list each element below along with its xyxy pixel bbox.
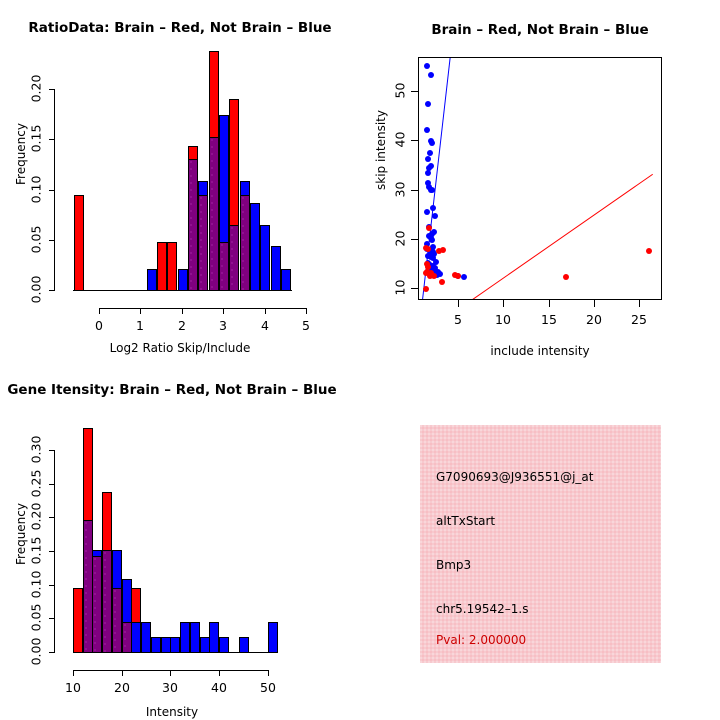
scatter-point <box>455 273 461 279</box>
x-axis-tick-label: 30 <box>150 680 190 695</box>
intensity-scatter-y-axis-label: skip intensity <box>374 110 388 190</box>
x-axis-tick <box>458 300 459 307</box>
scatter-point <box>563 274 569 280</box>
y-axis-tick-label: 10 <box>393 270 408 306</box>
y-axis-tick <box>411 190 418 191</box>
info-locus: chr5.19542–1.s <box>436 602 528 616</box>
scatter-point <box>461 274 467 280</box>
x-axis-tick <box>140 308 141 314</box>
x-axis-tick <box>182 308 183 314</box>
y-axis-tick <box>49 484 55 485</box>
y-axis-tick <box>49 139 55 140</box>
scatter-point <box>424 209 430 215</box>
intensity-scatter-panel: Brain – Red, Not Brain – Blue skip inten… <box>360 0 720 360</box>
x-axis-tick <box>549 300 550 307</box>
x-axis-tick-label: 5 <box>286 318 326 333</box>
x-axis-tick-label: 2 <box>162 318 202 333</box>
histogram-bar <box>281 269 291 291</box>
x-axis-tick-label: 40 <box>199 680 239 695</box>
y-axis-tick <box>49 89 55 90</box>
x-axis-tick <box>639 300 640 307</box>
scatter-points-clip <box>419 58 661 299</box>
scatter-point <box>429 237 435 243</box>
y-axis-tick-label: 30 <box>393 172 408 208</box>
y-axis-tick-label: 20 <box>393 221 408 257</box>
x-axis-tick-label: 20 <box>574 312 614 327</box>
gene-intensity-y-axis-label: Frequency <box>14 503 28 565</box>
y-axis-tick <box>49 585 55 586</box>
scatter-point <box>429 187 435 193</box>
gene-info-panel: G7090693@J936551@j_at altTxStart Bmp3 ch… <box>420 425 661 663</box>
ratio-histogram-panel: RatioData: Brain – Red, Not Brain – Blue… <box>0 0 360 360</box>
info-gene-symbol: Bmp3 <box>436 558 471 572</box>
histogram-bar <box>219 637 229 653</box>
x-axis-tick <box>122 670 123 676</box>
y-axis-tick-label: 0.10 <box>29 168 44 212</box>
x-axis-tick <box>170 670 171 676</box>
gene-intensity-x-axis-label: Intensity <box>146 705 198 719</box>
intensity-scatter-x-axis-label: include intensity <box>490 344 589 358</box>
scatter-point <box>424 127 430 133</box>
scatter-point <box>432 213 438 219</box>
ratio-histogram-title: RatioData: Brain – Red, Not Brain – Blue <box>28 20 331 36</box>
x-axis-tick-label: 1 <box>120 318 160 333</box>
x-axis-tick <box>265 308 266 314</box>
histogram-bar <box>188 159 198 291</box>
scatter-point <box>437 271 443 277</box>
scatter-point <box>423 286 429 292</box>
y-axis-tick <box>411 239 418 240</box>
gene-intensity-histogram-panel: Gene Itensity: Brain – Red, Not Brain – … <box>0 360 360 720</box>
x-axis-tick-label: 0 <box>79 318 119 333</box>
scatter-point <box>429 231 435 237</box>
histogram-bar <box>147 269 157 291</box>
y-axis-tick <box>49 517 55 518</box>
histogram-bar <box>151 637 161 653</box>
y-axis-tick-label: 0.00 <box>29 268 44 312</box>
histogram-bar <box>92 556 102 653</box>
info-event-type: altTxStart <box>436 514 495 528</box>
histogram-bar <box>170 637 180 653</box>
histogram-bar <box>73 588 83 653</box>
x-axis-tick-label: 5 <box>438 312 478 327</box>
y-axis-tick <box>49 652 55 653</box>
x-axis-tick-label: 4 <box>245 318 285 333</box>
y-axis-tick <box>49 190 55 191</box>
histogram-bar <box>209 137 219 291</box>
y-axis-tick <box>49 551 55 552</box>
y-axis-tick <box>49 450 55 451</box>
histogram-bar <box>167 242 177 291</box>
scatter-point <box>429 140 435 146</box>
x-axis-line <box>99 308 306 309</box>
y-axis-tick <box>411 140 418 141</box>
info-pval: Pval: 2.000000 <box>436 633 526 647</box>
y-axis-tick-label: 0.20 <box>29 67 44 111</box>
scatter-point <box>439 279 445 285</box>
y-axis-tick-label: 0.30 <box>29 428 44 472</box>
info-probe-id: G7090693@J936551@j_at <box>436 470 593 484</box>
scatter-point <box>425 156 431 162</box>
histogram-bar <box>229 225 239 291</box>
ratio-histogram-y-axis-label: Frequency <box>14 123 28 185</box>
scatter-point <box>430 205 436 211</box>
x-axis-tick <box>268 670 269 676</box>
histogram-bar <box>141 622 151 653</box>
histogram-bar <box>157 242 167 291</box>
histogram-bar <box>102 550 112 653</box>
histogram-bar <box>198 195 208 291</box>
histogram-bar <box>131 622 141 653</box>
scatter-point <box>436 248 442 254</box>
intensity-scatter-title: Brain – Red, Not Brain – Blue <box>431 22 648 38</box>
y-axis-tick <box>49 618 55 619</box>
x-axis-tick-label: 50 <box>248 680 288 695</box>
y-axis-tick-label: 50 <box>393 73 408 109</box>
histogram-bar <box>122 622 132 653</box>
figure-canvas: RatioData: Brain – Red, Not Brain – Blue… <box>0 0 720 720</box>
x-axis-tick <box>306 308 307 314</box>
y-axis-tick <box>49 240 55 241</box>
histogram-bar <box>219 242 229 291</box>
ratio-histogram-x-axis-label: Log2 Ratio Skip/Include <box>110 341 251 355</box>
y-axis-tick-label: 0.15 <box>29 117 44 161</box>
y-axis-tick-label: 40 <box>393 122 408 158</box>
gene-intensity-histogram-title: Gene Itensity: Brain – Red, Not Brain – … <box>7 382 336 398</box>
histogram-bar <box>240 195 250 291</box>
scatter-point <box>428 72 434 78</box>
scatter-point <box>425 101 431 107</box>
scatter-point <box>425 170 431 176</box>
y-axis-tick <box>411 288 418 289</box>
x-axis-tick <box>99 308 100 314</box>
y-axis-tick <box>49 290 55 291</box>
x-axis-tick-label: 10 <box>483 312 523 327</box>
histogram-bar <box>271 246 281 291</box>
histogram-bar <box>209 622 219 653</box>
scatter-point <box>424 63 430 69</box>
histogram-bar <box>112 588 122 653</box>
scatter-point <box>425 246 431 252</box>
y-axis-tick <box>411 91 418 92</box>
x-axis-tick-label: 15 <box>529 312 569 327</box>
histogram-bar <box>239 637 249 653</box>
x-axis-tick <box>594 300 595 307</box>
histogram-bar <box>268 622 278 653</box>
scatter-point <box>431 273 437 279</box>
scatter-point <box>646 248 652 254</box>
histogram-bar <box>190 622 200 653</box>
x-axis-tick-label: 3 <box>203 318 243 333</box>
histogram-bar <box>250 203 260 291</box>
x-axis-tick-label: 10 <box>53 680 93 695</box>
x-axis-tick <box>73 670 74 676</box>
x-axis-tick-label: 20 <box>102 680 142 695</box>
histogram-bar <box>180 622 190 653</box>
histogram-bar <box>178 269 188 291</box>
x-axis-tick <box>219 670 220 676</box>
x-axis-tick <box>503 300 504 307</box>
x-axis-tick-label: 25 <box>619 312 659 327</box>
y-axis-tick-label: 0.05 <box>29 218 44 262</box>
histogram-bar <box>260 225 270 291</box>
x-axis-tick <box>223 308 224 314</box>
scatter-point <box>430 244 436 250</box>
histogram-bar <box>74 195 84 291</box>
